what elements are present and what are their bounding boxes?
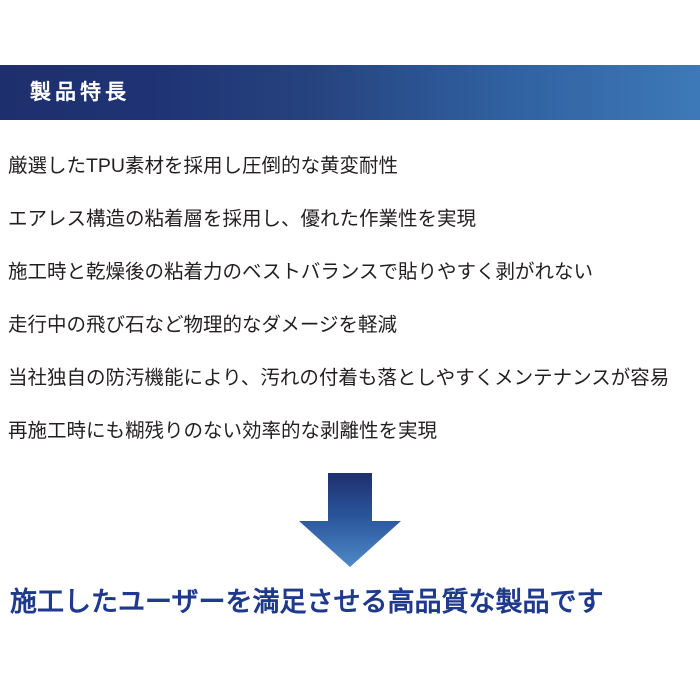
- conclusion-text: 施工したユーザーを満足させる高品質な製品です: [10, 587, 603, 618]
- feature-text: 厳選したTPU素材を採用し圧倒的な黄変耐性: [8, 155, 398, 178]
- feature-text: 再施工時にも糊残りのない効率的な剥離性を実現: [8, 420, 437, 443]
- feature-list: 厳選したTPU素材を採用し圧倒的な黄変耐性 エアレス構造の粘着層を採用し、優れた…: [0, 140, 700, 458]
- product-features-page: 製品特長 厳選したTPU素材を採用し圧倒的な黄変耐性 エアレス構造の粘着層を採用…: [0, 0, 700, 700]
- list-item: 走行中の飛び石など物理的なダメージを軽減: [0, 299, 700, 352]
- arrow-container: [0, 472, 700, 572]
- feature-text: エアレス構造の粘着層を採用し、優れた作業性を実現: [8, 208, 476, 231]
- arrow-down-icon: [298, 472, 402, 568]
- list-item: エアレス構造の粘着層を採用し、優れた作業性を実現: [0, 193, 700, 246]
- list-item: 再施工時にも糊残りのない効率的な剥離性を実現: [0, 405, 700, 458]
- feature-text: 施工時と乾燥後の粘着力のベストバランスで貼りやすく剥がれない: [8, 261, 593, 284]
- list-item: 厳選したTPU素材を採用し圧倒的な黄変耐性: [0, 140, 700, 193]
- section-header-bar: 製品特長: [0, 65, 700, 120]
- feature-text: 走行中の飛び石など物理的なダメージを軽減: [8, 314, 397, 337]
- feature-text: 当社独自の防汚機能により、汚れの付着も落としやすくメンテナンスが容易: [8, 367, 669, 390]
- list-item: 当社独自の防汚機能により、汚れの付着も落としやすくメンテナンスが容易: [0, 352, 700, 405]
- conclusion-banner: 施工したユーザーを満足させる高品質な製品です: [0, 578, 700, 628]
- page-title: 製品特長: [30, 82, 130, 103]
- list-item: 施工時と乾燥後の粘着力のベストバランスで貼りやすく剥がれない: [0, 246, 700, 299]
